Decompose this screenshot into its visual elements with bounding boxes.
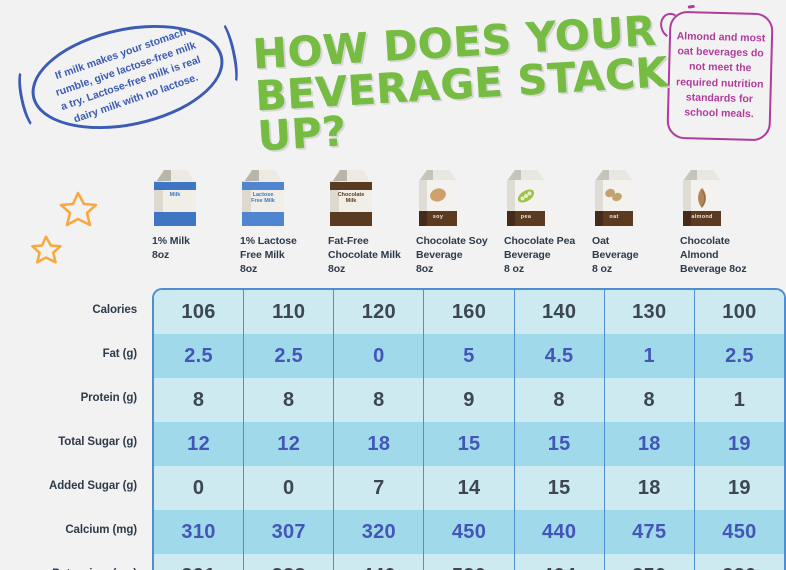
carton-oat-art: oat (592, 168, 678, 226)
nutrition-row-labels: CaloriesFat (g)Protein (g)Total Sugar (g… (0, 288, 140, 570)
carton-chocolate-milk-art: Chocolate Milk (328, 168, 414, 226)
table-cell: 130 (605, 290, 695, 334)
star-icon (30, 234, 62, 265)
table-cell: 120 (334, 290, 424, 334)
table-cell: 440 (334, 554, 424, 570)
table-cell: 307 (244, 510, 334, 554)
table-cell: 2.5 (695, 334, 784, 378)
carton-label-lactose-free: Lactose Free Milk (242, 193, 284, 205)
table-cell: 0 (244, 466, 334, 510)
table-cell: 310 (154, 510, 244, 554)
callout-lactose-tip: If milk makes your stomach rumble, give … (22, 9, 233, 145)
product-name-7: Chocolate Almond Beverage 8oz (680, 235, 766, 277)
nutrition-row-label: Calcium (mg) (0, 508, 140, 552)
product-column-7-almond: almond Chocolate Almond Beverage 8oz (680, 168, 766, 277)
carton-label-chocolate-milk: Chocolate Milk (330, 193, 372, 205)
table-cell: 4.5 (515, 334, 605, 378)
table-cell: 1 (605, 334, 695, 378)
table-cell: 520 (424, 554, 514, 570)
table-cell: 1 (695, 378, 784, 422)
table-row: 8889881 (154, 378, 784, 422)
table-cell: 350 (605, 554, 695, 570)
carton-label-oat: oat (595, 214, 633, 220)
infographic-canvas: If milk makes your stomach rumble, give … (0, 0, 786, 570)
table-row: 310307320450440475450 (154, 510, 784, 554)
nutrition-row-label: Protein (g) (0, 376, 140, 420)
product-column-4-soy: soy Chocolate Soy Beverage 8oz (416, 168, 502, 277)
table-cell: 100 (695, 290, 784, 334)
table-cell: 18 (605, 466, 695, 510)
table-cell: 9 (424, 378, 514, 422)
callout-standards-note: Almond and most oat beverages do not mee… (666, 11, 773, 142)
table-cell: 391 (154, 554, 244, 570)
carton-label-milk: Milk (154, 193, 196, 199)
callout-accent-dot (688, 5, 695, 9)
table-cell: 440 (515, 510, 605, 554)
table-cell: 18 (334, 422, 424, 466)
product-header-row: Milk 1% Milk 8oz Lactose Free Milk 1% La… (152, 168, 786, 280)
table-cell: 15 (515, 422, 605, 466)
table-cell: 8 (244, 378, 334, 422)
table-cell: 160 (424, 290, 514, 334)
table-cell: 7 (334, 466, 424, 510)
table-row: 391388440520464350220 (154, 554, 784, 570)
nutrition-table: 1061101201601401301002.52.5054.512.58889… (152, 288, 786, 570)
table-row: 106110120160140130100 (154, 290, 784, 334)
carton-label-almond: almond (683, 214, 721, 220)
product-column-2-lactose-free: Lactose Free Milk 1% Lactose Free Milk 8… (240, 168, 326, 277)
product-name-3: Fat-Free Chocolate Milk 8oz (328, 235, 414, 277)
product-name-4: Chocolate Soy Beverage 8oz (416, 235, 502, 277)
table-cell: 220 (695, 554, 784, 570)
carton-label-soy: soy (419, 214, 457, 220)
carton-soy-art: soy (416, 168, 502, 226)
nutrition-row-label: Total Sugar (g) (0, 420, 140, 464)
oats-icon (592, 186, 636, 204)
product-name-1: 1% Milk 8oz (152, 235, 238, 263)
table-cell: 8 (334, 378, 424, 422)
almond-icon (680, 186, 724, 210)
table-row: 00714151819 (154, 466, 784, 510)
table-cell: 5 (424, 334, 514, 378)
table-cell: 0 (334, 334, 424, 378)
table-cell: 450 (424, 510, 514, 554)
table-cell: 14 (424, 466, 514, 510)
star-icon (58, 190, 98, 228)
product-column-5-pea: pea Chocolate Pea Beverage 8 oz (504, 168, 590, 277)
carton-lactose-free-art: Lactose Free Milk (240, 168, 326, 226)
table-row: 12121815151819 (154, 422, 784, 466)
table-cell: 19 (695, 466, 784, 510)
product-name-5: Chocolate Pea Beverage 8 oz (504, 235, 590, 277)
table-cell: 15 (515, 466, 605, 510)
carton-label-pea: pea (507, 214, 545, 220)
carton-milk-art: Milk (152, 168, 238, 226)
table-cell: 12 (244, 422, 334, 466)
table-cell: 8 (154, 378, 244, 422)
product-column-6-oat: oat Oat Beverage 8 oz (592, 168, 678, 277)
table-cell: 18 (605, 422, 695, 466)
callout-standards-note-text: Almond and most oat beverages do not mee… (673, 29, 767, 123)
table-cell: 106 (154, 290, 244, 334)
table-cell: 2.5 (154, 334, 244, 378)
nutrition-row-label: Added Sugar (g) (0, 464, 140, 508)
soybean-icon (416, 186, 460, 204)
table-cell: 110 (244, 290, 334, 334)
nutrition-row-label: Calories (0, 288, 140, 332)
product-name-6: Oat Beverage 8 oz (592, 235, 678, 277)
table-cell: 8 (605, 378, 695, 422)
table-cell: 2.5 (244, 334, 334, 378)
table-cell: 0 (154, 466, 244, 510)
table-cell: 8 (515, 378, 605, 422)
table-cell: 450 (695, 510, 784, 554)
table-cell: 19 (695, 422, 784, 466)
table-cell: 388 (244, 554, 334, 570)
product-column-1-milk: Milk 1% Milk 8oz (152, 168, 238, 263)
table-cell: 15 (424, 422, 514, 466)
peapod-icon (504, 186, 548, 206)
product-column-3-chocolate-milk: Chocolate Milk Fat-Free Chocolate Milk 8… (328, 168, 414, 277)
table-cell: 12 (154, 422, 244, 466)
nutrition-row-label: Potassium (mg) (0, 552, 140, 570)
table-cell: 475 (605, 510, 695, 554)
table-cell: 140 (515, 290, 605, 334)
page-title: HOW DOES YOUR BEVERAGE STACK UP? (252, 10, 679, 157)
table-cell: 320 (334, 510, 424, 554)
carton-pea-art: pea (504, 168, 590, 226)
product-name-2: 1% Lactose Free Milk 8oz (240, 235, 326, 277)
table-cell: 464 (515, 554, 605, 570)
table-row: 2.52.5054.512.5 (154, 334, 784, 378)
carton-almond-art: almond (680, 168, 766, 226)
nutrition-row-label: Fat (g) (0, 332, 140, 376)
